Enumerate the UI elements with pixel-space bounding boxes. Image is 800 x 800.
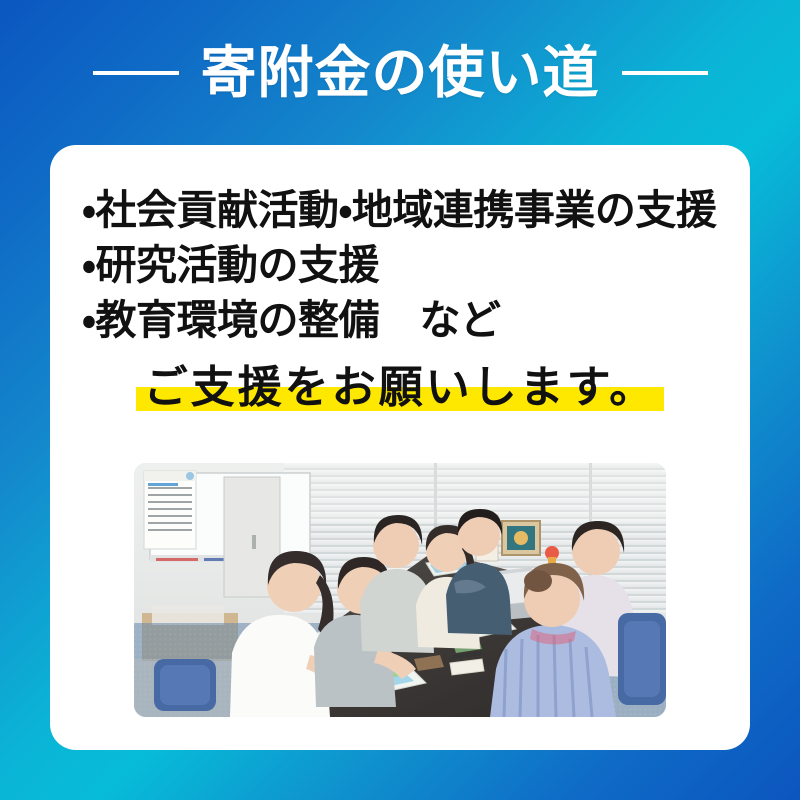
cta-inner: ご支援をお願いします。 [144,360,657,415]
meeting-photo-illustration [134,463,666,717]
list-item: ・研究活動の支援 [82,238,732,293]
list-item: ・教育環境の整備 など [82,293,732,348]
title-rule-left [93,71,179,75]
call-to-action: ご支援をお願いします。 [50,360,750,415]
usage-bullet-list: ・社会貢献活動・地域連携事業の支援 ・研究活動の支援 ・教育環境の整備 など [82,183,732,348]
cta-text: ご支援をお願いします。 [144,363,657,412]
list-item: ・社会貢献活動・地域連携事業の支援 [82,183,732,238]
donation-poster: 寄附金の使い道 ・社会貢献活動・地域連携事業の支援 ・研究活動の支援 ・教育環境… [0,0,800,800]
poster-header: 寄附金の使い道 [0,0,800,145]
content-card: ・社会貢献活動・地域連携事業の支援 ・研究活動の支援 ・教育環境の整備 など ご… [50,145,750,750]
title-rule-right [622,71,708,75]
meeting-photo [134,463,666,717]
page-title: 寄附金の使い道 [201,45,600,101]
